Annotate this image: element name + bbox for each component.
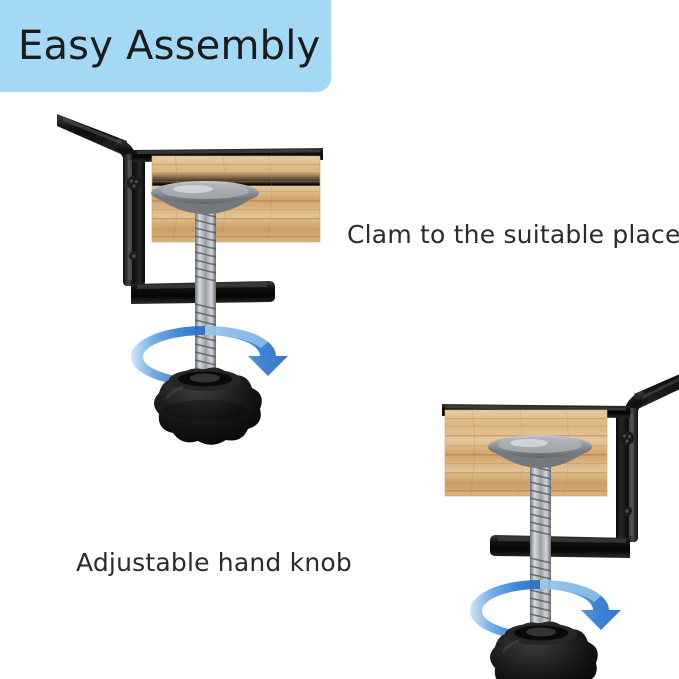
hand-knob — [154, 368, 262, 445]
page-title: Easy Assembly — [18, 26, 320, 66]
caption-hand-knob: Adjustable hand knob — [76, 548, 352, 577]
vertical-post — [123, 154, 145, 286]
header-banner: Easy Assembly — [0, 0, 331, 92]
clamp-assembly-top-left — [55, 108, 355, 438]
threaded-screw — [530, 444, 551, 630]
vertical-post — [616, 408, 638, 542]
threaded-screw — [195, 190, 216, 376]
clamp-assembly-bottom-right — [420, 358, 679, 679]
lower-jaw — [490, 535, 630, 558]
caption-clamp-placement: Clam to the suitable place — [347, 220, 679, 249]
infographic-page: Easy Assembly Clam to the suitable place… — [0, 0, 679, 679]
